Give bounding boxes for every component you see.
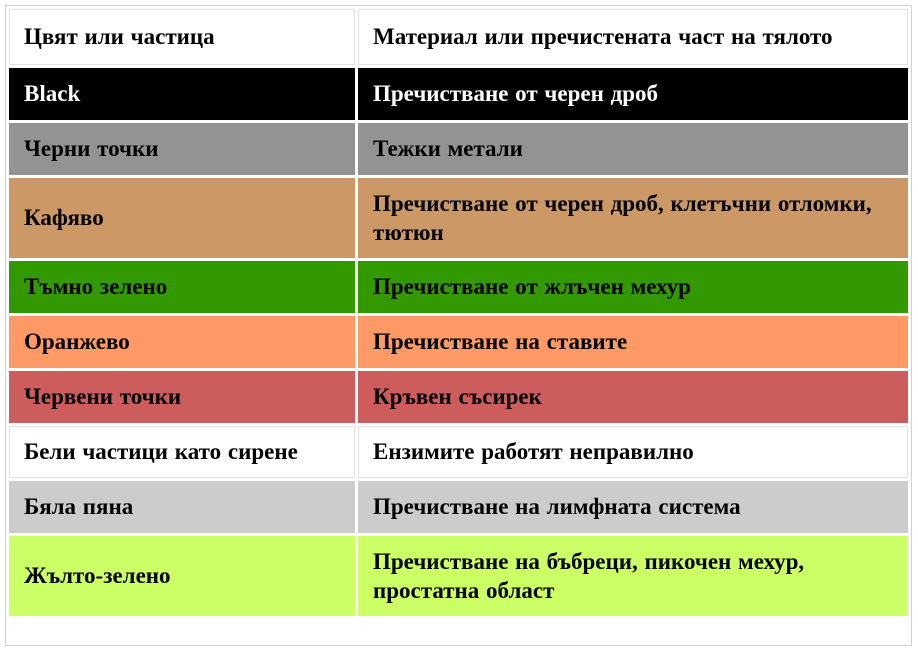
header-cell-color: Цвят или частица	[9, 9, 355, 65]
table-body: Цвят или частица Материал или пречистена…	[9, 9, 908, 616]
cell-material-description: Тежки метали	[358, 123, 908, 175]
header-cell-material: Материал или пречистената част на тялото	[358, 9, 908, 65]
cell-color-label: Тъмно зелено	[9, 261, 355, 313]
page-frame: Цвят или частица Материал или пречистена…	[0, 0, 918, 662]
cell-material-description: Пречистване от черен дроб, клетъчни отло…	[358, 178, 908, 258]
cell-material-description: Кръвен съсирек	[358, 371, 908, 423]
cell-color-label: Червени точки	[9, 371, 355, 423]
table-container: Цвят или частица Материал или пречистена…	[5, 5, 912, 646]
cell-color-label: Жълто-зелено	[9, 536, 355, 616]
color-legend-table: Цвят или частица Материал или пречистена…	[6, 6, 911, 619]
cell-color-label: Black	[9, 68, 355, 120]
cell-material-description: Пречистване на ставите	[358, 316, 908, 368]
table-row: Жълто-зеленоПречистване на бъбреци, пико…	[9, 536, 908, 616]
cell-material-description: Пречистване от жлъчен мехур	[358, 261, 908, 313]
table-row: Тъмно зеленоПречистване от жлъчен мехур	[9, 261, 908, 313]
table-row: Черни точкиТежки метали	[9, 123, 908, 175]
table-row: Червени точкиКръвен съсирек	[9, 371, 908, 423]
table-header-row: Цвят или частица Материал или пречистена…	[9, 9, 908, 65]
cell-material-description: Пречистване на лимфната система	[358, 481, 908, 533]
table-row: ОранжевоПречистване на ставите	[9, 316, 908, 368]
cell-color-label: Черни точки	[9, 123, 355, 175]
table-row: Бяла пянаПречистване на лимфната система	[9, 481, 908, 533]
cell-color-label: Бяла пяна	[9, 481, 355, 533]
cell-color-label: Оранжево	[9, 316, 355, 368]
cell-material-description: Пречистване от черен дроб	[358, 68, 908, 120]
cell-material-description: Ензимите работят неправилно	[358, 426, 908, 478]
table-row: КафявоПречистване от черен дроб, клетъчн…	[9, 178, 908, 258]
table-row: BlackПречистване от черен дроб	[9, 68, 908, 120]
cell-material-description: Пречистване на бъбреци, пикочен мехур, п…	[358, 536, 908, 616]
cell-color-label: Кафяво	[9, 178, 355, 258]
table-row: Бели частици като сиренеЕнзимите работят…	[9, 426, 908, 478]
cell-color-label: Бели частици като сирене	[9, 426, 355, 478]
